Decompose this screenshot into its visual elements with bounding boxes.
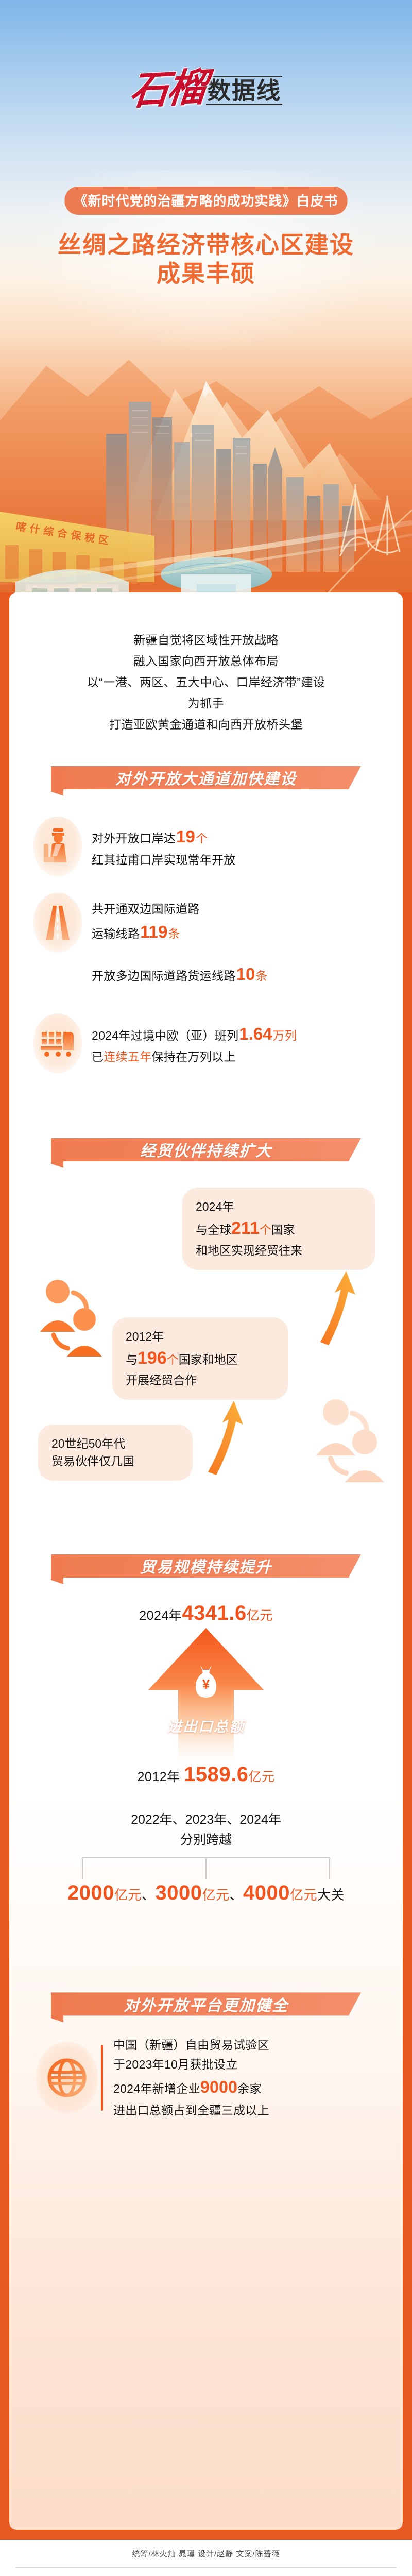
stat-roads-line2: 运输线路119条 xyxy=(92,919,200,945)
big-up-arrow-icon: ¥ xyxy=(9,1625,403,1763)
partners-stairs: 2024年 与全球211个国家 和地区实现经贸往来 2012年 与196个国家和… xyxy=(9,1168,403,1529)
trade-2012-unit: 亿元 xyxy=(248,1770,274,1784)
milestone-heading: 2022年、2023年、2024年 分别跨越 xyxy=(9,1810,403,1850)
intro-line-5: 打造亚欧黄金通道和向西开放桥头堡 xyxy=(30,714,382,735)
import-export-total-label: 进出口总额 xyxy=(9,1716,403,1736)
stat-roads-line1: 共开通双边国际道路 xyxy=(92,900,200,918)
platform-line1: 中国（新疆）自由贸易试验区 xyxy=(113,2036,269,2055)
milestone-suffix: 大关 xyxy=(317,1887,345,1903)
intro-line-1: 新疆自觉将区域性开放战略 xyxy=(30,630,382,651)
trade-2024-year: 2024年 xyxy=(139,1608,182,1623)
customs-officer-icon xyxy=(33,817,82,876)
milestone-sep-2: 、 xyxy=(229,1887,243,1903)
logo-text-block: 数据线 xyxy=(206,76,282,106)
platform-line3-pre: 2024年新增企业 xyxy=(113,2082,200,2095)
stat-roads-line3-wrap: 开放多边国际道路货运线路10条 xyxy=(9,961,403,988)
freight-train-icon xyxy=(33,1013,82,1073)
stat-row-ports: 对外开放口岸达19个 红其拉甫口岸实现常年开放 xyxy=(9,808,403,885)
partner-step-2024-post: 国家 xyxy=(271,1223,295,1236)
stat-ports-line2: 红其拉甫口岸实现常年开放 xyxy=(92,851,236,869)
stat-roads-line3-pre: 开放多边国际道路货运线路 xyxy=(92,969,236,982)
milestone-sep-1: 、 xyxy=(142,1887,156,1903)
partner-step-1950s: 20世纪50年代 贸易伙伴仅几国 xyxy=(38,1425,193,1481)
stat-text-ports: 对外开放口岸达19个 红其拉甫口岸实现常年开放 xyxy=(92,823,236,869)
partner-step-2012-post: 国家和地区 xyxy=(179,1353,238,1366)
partner-step-2024-number: 211 xyxy=(231,1218,260,1238)
hero-section: 喀什综合保税区 xyxy=(0,0,412,603)
trade-2024-number: 4341.6 xyxy=(182,1602,246,1624)
section-banner-label: 贸易规模持续提升 xyxy=(51,1554,361,1578)
partner-step-2012-year: 2012年 xyxy=(126,1328,275,1346)
partner-step-1950s-desc: 贸易伙伴仅几国 xyxy=(51,1452,179,1470)
milestone-bracket xyxy=(41,1857,371,1880)
milestone-1-unit: 亿元 xyxy=(114,1887,142,1903)
stat-roads-number: 119 xyxy=(140,922,168,941)
platform-row: 中国（新疆）自由贸易试验区 于2023年10月获批设立 2024年新增企业900… xyxy=(9,2022,403,2120)
section-banner-label: 对外开放大通道加快建设 xyxy=(51,766,361,789)
growth-arrow-lower-icon xyxy=(205,1399,251,1476)
intro-line-3: 以“一港、两区、五大中心、口岸经济带”建设 xyxy=(30,672,382,693)
svg-text:¥: ¥ xyxy=(202,1676,210,1692)
logo-rule-bottom xyxy=(206,104,282,105)
intro-line-2: 融入国家向西开放总体布局 xyxy=(30,651,382,672)
platform-line3: 2024年新增企业9000余家 xyxy=(113,2074,269,2101)
stat-train-line2-post: 保持在万列以上 xyxy=(152,1050,236,1063)
page-title-line1: 丝绸之路经济带核心区建设 xyxy=(0,231,412,260)
stat-train-pre: 2024年过境中欧（亚）班列 xyxy=(92,1029,238,1042)
stat-train-line2-pre: 已 xyxy=(92,1050,104,1063)
intro-line-4: 为抓手 xyxy=(30,693,382,714)
road-icon xyxy=(33,893,82,953)
content-card: 新疆自觉将区域性开放战略 融入国家向西开放总体布局 以“一港、两区、五大中心、口… xyxy=(9,592,403,2530)
platform-line4: 进出口总额占到全疆三成以上 xyxy=(113,2101,269,2120)
platform-line3-number: 9000 xyxy=(200,2078,237,2096)
partner-step-2012: 2012年 与196个国家和地区 开展经贸合作 xyxy=(112,1317,288,1400)
people-group-icon xyxy=(36,1270,108,1357)
growth-arrow-upper-icon xyxy=(317,1269,364,1346)
stat-roads-line3-number: 10 xyxy=(236,964,256,984)
milestone-3-number: 4000 xyxy=(243,1882,290,1904)
trade-2012-year: 2012年 xyxy=(138,1770,180,1784)
partner-step-2024-year: 2024年 xyxy=(196,1198,362,1216)
milestone-3-unit: 亿元 xyxy=(290,1887,317,1903)
trade-value-2024: 2024年4341.6亿元 xyxy=(9,1602,403,1625)
platform-text: 中国（新疆）自由贸易试验区 于2023年10月获批设立 2024年新增企业900… xyxy=(113,2036,269,2120)
milestone-values: 2000亿元、3000亿元、4000亿元大关 xyxy=(9,1882,403,1905)
stat-roads-unit: 条 xyxy=(168,927,180,940)
partner-step-2012-unit: 个 xyxy=(167,1353,179,1366)
stat-train-line1: 2024年过境中欧（亚）班列1.64万列 xyxy=(92,1021,297,1047)
stat-train-line2-highlight: 连续五年 xyxy=(104,1050,151,1063)
whitepaper-pill: 《新时代党的治疆方略的成功实践》白皮书 xyxy=(64,187,347,215)
trade-2024-unit: 亿元 xyxy=(247,1608,273,1623)
section-banner-platform: 对外开放平台更加健全 xyxy=(51,1992,361,2022)
partner-step-2024-main: 与全球211个国家 xyxy=(196,1215,362,1242)
footer-logo-group: 新疆日报 石榴云 天山网 xyxy=(0,2568,412,2576)
stat-roads-line3-unit: 条 xyxy=(255,969,267,982)
stat-train-number: 1.64 xyxy=(238,1024,272,1043)
logo-text: 数据线 xyxy=(206,79,282,104)
milestone-2-number: 3000 xyxy=(155,1882,202,1904)
stat-ports-number: 19 xyxy=(176,827,196,846)
section-banner-corridors: 对外开放大通道加快建设 xyxy=(51,766,361,796)
stat-train-line2: 已连续五年保持在万列以上 xyxy=(92,1047,297,1066)
partner-step-2024-desc: 和地区实现经贸往来 xyxy=(196,1242,362,1260)
stat-text-freight-train: 2024年过境中欧（亚）班列1.64万列 已连续五年保持在万列以上 xyxy=(92,1021,297,1066)
footer: 统筹/林火灿 晁瑾 设计/赵静 文案/陈蔷薇 新疆日报 石榴云 天山网 新疆报业… xyxy=(0,2540,412,2576)
growth-arrow-block: ¥ 进出口总额 xyxy=(9,1625,403,1763)
partner-step-2024-pre: 与全球 xyxy=(196,1223,231,1236)
stat-roads-pre: 运输线路 xyxy=(92,927,140,940)
partner-step-2012-main: 与196个国家和地区 xyxy=(126,1345,275,1371)
platform-line2: 于2023年10月获批设立 xyxy=(113,2055,269,2074)
section-banner-label: 对外开放平台更加健全 xyxy=(51,1992,361,2015)
partner-step-2012-pre: 与 xyxy=(126,1353,138,1366)
logo-calligraphy-text: 石榴 xyxy=(128,70,206,109)
platform-line3-post: 余家 xyxy=(237,2082,262,2095)
milestone-1-number: 2000 xyxy=(67,1882,114,1904)
page-title: 丝绸之路经济带核心区建设 成果丰硕 xyxy=(0,231,412,289)
milestone-heading-line2: 分别跨越 xyxy=(9,1830,403,1850)
people-group-icon-ghost xyxy=(312,1389,389,1482)
trade-2012-number: 1589.6 xyxy=(184,1763,248,1786)
partner-step-2024-unit: 个 xyxy=(260,1223,271,1236)
stat-ports-line1: 对外开放口岸达19个 xyxy=(92,823,236,850)
partner-step-2024: 2024年 与全球211个国家 和地区实现经贸往来 xyxy=(182,1188,375,1270)
cityscape-illustration: 喀什综合保税区 xyxy=(0,314,412,603)
footer-credits: 统筹/林火灿 晁瑾 设计/赵静 文案/陈蔷薇 xyxy=(0,2540,412,2559)
milestone-heading-line1: 2022年、2023年、2024年 xyxy=(9,1810,403,1830)
section-banner-label: 经贸伙伴持续扩大 xyxy=(51,1138,361,1161)
intro-block: 新疆自觉将区域性开放战略 融入国家向西开放总体布局 以“一港、两区、五大中心、口… xyxy=(9,592,403,735)
trade-value-2012: 2012年 1589.6亿元 xyxy=(9,1763,403,1786)
stat-train-unit: 万列 xyxy=(273,1029,297,1042)
section-banner-partners: 经贸伙伴持续扩大 xyxy=(51,1138,361,1168)
page-title-line2: 成果丰硕 xyxy=(0,260,412,289)
platform-accent-bar xyxy=(101,2045,103,2111)
stat-text-roads: 共开通双边国际道路 运输线路119条 xyxy=(92,900,200,945)
logo-rule-top xyxy=(206,76,282,77)
brand-logo: 石榴 数据线 xyxy=(0,72,412,107)
stat-ports-pre: 对外开放口岸达 xyxy=(92,832,176,845)
partner-step-1950s-year: 20世纪50年代 xyxy=(51,1435,179,1453)
stat-ports-unit: 个 xyxy=(196,832,208,845)
milestone-2-unit: 亿元 xyxy=(202,1887,229,1903)
partner-step-2012-desc: 开展经贸合作 xyxy=(126,1371,275,1389)
section-banner-trade-scale: 贸易规模持续提升 xyxy=(51,1554,361,1584)
stat-row-freight-train: 2024年过境中欧（亚）班列1.64万列 已连续五年保持在万列以上 xyxy=(9,1005,403,1081)
globe-icon xyxy=(36,2042,98,2114)
stat-row-roads: 共开通双边国际道路 运输线路119条 xyxy=(9,885,403,961)
partner-step-2012-number: 196 xyxy=(138,1348,167,1368)
infographic-page: 喀什综合保税区 xyxy=(0,0,412,2576)
body-frame: 新疆自觉将区域性开放战略 融入国家向西开放总体布局 以“一港、两区、五大中心、口… xyxy=(0,592,412,2540)
